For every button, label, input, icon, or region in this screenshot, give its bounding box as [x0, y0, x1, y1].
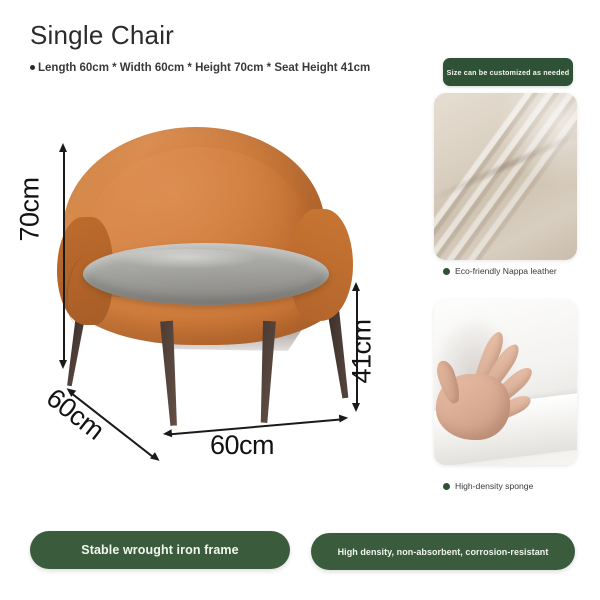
- customization-badge-label: Size can be customized as needed: [447, 68, 570, 77]
- pill-density-label: High density, non-absorbent, corrosion-r…: [338, 547, 549, 557]
- pill-high-density: High density, non-absorbent, corrosion-r…: [311, 533, 575, 570]
- cushion-highlight: [111, 249, 261, 269]
- product-infographic: Single Chair Length 60cm * Width 60cm * …: [0, 0, 600, 600]
- sponge-caption: High-density sponge: [443, 481, 533, 491]
- dimension-label-width: 60cm: [210, 432, 274, 459]
- leather-photo: [434, 93, 577, 260]
- dimension-line-height: [63, 152, 65, 360]
- bullet-icon: [30, 65, 35, 70]
- dimension-label-height: 70cm: [17, 177, 44, 241]
- leather-sheen: [491, 93, 577, 193]
- bullet-dot-icon: [443, 268, 450, 275]
- arrow-down-icon: [352, 403, 360, 412]
- chair-graphic: [55, 125, 385, 435]
- sponge-caption-text: High-density sponge: [455, 481, 533, 491]
- arrow-right-icon: [339, 414, 349, 423]
- arrow-up-icon: [352, 282, 360, 291]
- arrow-right-icon: [150, 452, 162, 464]
- arrow-left-icon: [163, 429, 173, 438]
- leather-caption-text: Eco-friendly Nappa leather: [455, 266, 557, 276]
- spec-text: Length 60cm * Width 60cm * Height 70cm *…: [38, 62, 370, 74]
- pill-frame-label: Stable wrought iron frame: [81, 543, 238, 557]
- chair-illustration: [55, 125, 385, 435]
- arrow-up-icon: [59, 143, 67, 152]
- spec-line: Length 60cm * Width 60cm * Height 70cm *…: [30, 62, 370, 74]
- bullet-dot-icon: [443, 483, 450, 490]
- hand-icon: [436, 330, 532, 440]
- leather-caption: Eco-friendly Nappa leather: [443, 266, 557, 276]
- arrow-down-icon: [59, 360, 67, 369]
- dimension-label-seat-height: 41cm: [349, 319, 376, 383]
- customization-badge: Size can be customized as needed: [443, 58, 573, 86]
- pill-wrought-iron-frame: Stable wrought iron frame: [30, 531, 290, 569]
- page-title: Single Chair: [30, 22, 174, 48]
- sponge-photo: [434, 300, 577, 465]
